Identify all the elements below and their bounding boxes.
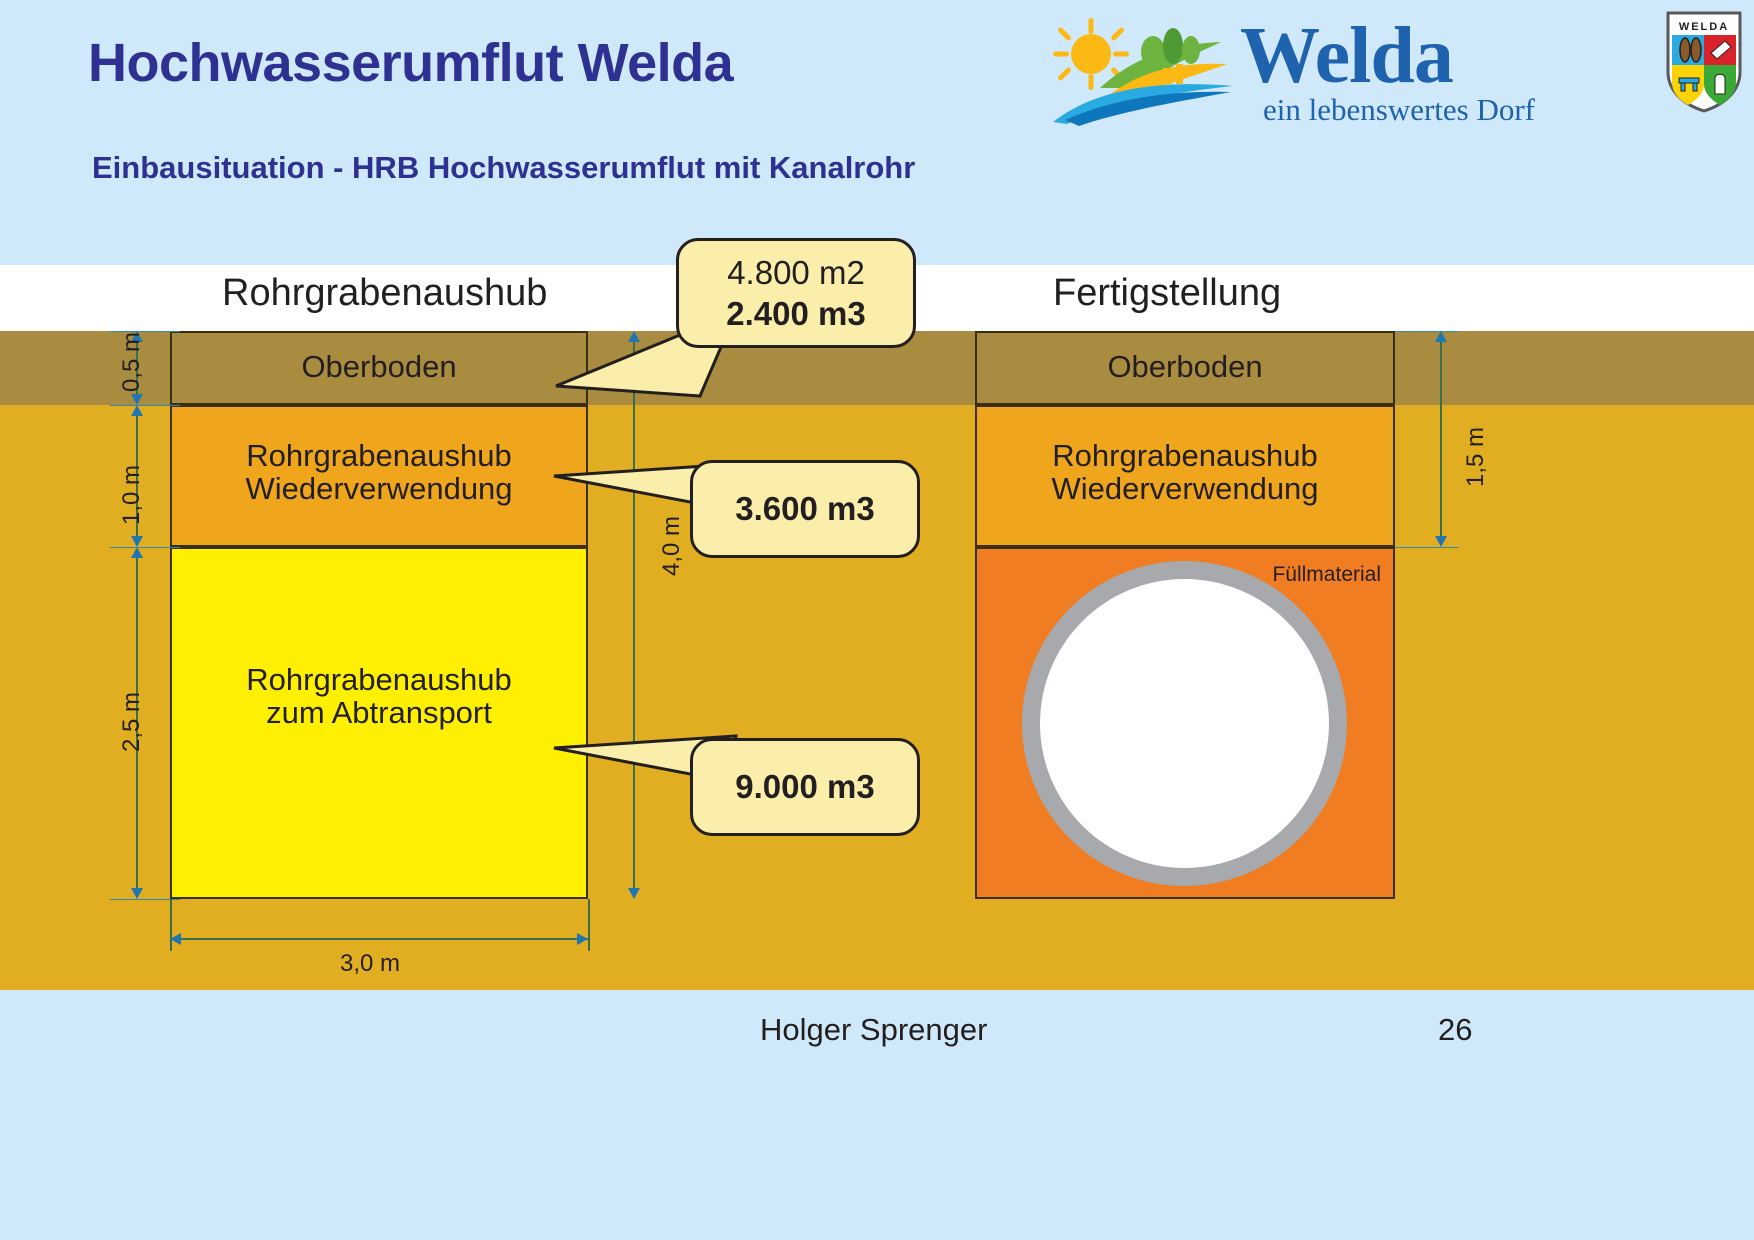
callout-excavation-area: 4.800 m2 2.400 m3 — [676, 238, 916, 348]
welda-logo: Welda ein lebenswertes Dorf WELDA — [1045, 4, 1745, 132]
dim-arrow-up-reuse — [131, 405, 143, 416]
dim-label-topsoil: 0,5 m — [118, 332, 146, 392]
dim-arrow-up-right — [1435, 331, 1447, 342]
left-reuse-label: Rohrgrabenaushub Wiederverwendung — [172, 439, 586, 506]
left-topsoil-block: Oberboden — [170, 331, 588, 405]
logo-tagline: ein lebenswertes Dorf — [1263, 92, 1535, 128]
fill-material-label: Füllmaterial — [1272, 563, 1381, 587]
dim-arrow-down-reuse — [131, 536, 143, 547]
callout-2-line1: 3.600 m3 — [735, 488, 874, 529]
page-subtitle: Einbausituation - HRB Hochwasserumflut m… — [92, 150, 915, 186]
dim-ext-left-mid1 — [110, 405, 180, 406]
right-reuse-label-line2: Wiederverwendung — [977, 472, 1393, 505]
pipe-bore-icon — [1040, 579, 1329, 868]
dim-ext-left-mid2 — [110, 547, 180, 548]
footer-page-number: 26 — [1438, 1012, 1472, 1048]
dim-label-width: 3,0 m — [340, 950, 400, 978]
dim-ext-right-top — [1395, 331, 1459, 332]
dim-arrow-right-width — [577, 933, 588, 945]
left-haul-label: Rohrgrabenaushub zum Abtransport — [172, 663, 586, 730]
panel-heading-left: Rohrgrabenaushub — [222, 272, 547, 315]
left-haul-block: Rohrgrabenaushub zum Abtransport — [170, 547, 588, 899]
left-topsoil-label: Oberboden — [172, 350, 586, 383]
left-haul-label-line2: zum Abtransport — [172, 696, 586, 729]
left-haul-label-line1: Rohrgrabenaushub — [172, 663, 586, 696]
right-topsoil-label: Oberboden — [977, 350, 1393, 383]
dim-ext-right-bottom — [1395, 547, 1459, 548]
callout-3-line1: 9.000 m3 — [735, 766, 874, 807]
dim-arrow-left-width — [170, 933, 181, 945]
left-reuse-label-line1: Rohrgrabenaushub — [172, 439, 586, 472]
dim-ext-width-right — [588, 899, 590, 951]
svg-text:WELDA: WELDA — [1679, 21, 1729, 33]
callout-1-line1: 4.800 m2 — [727, 252, 865, 293]
pipe-wall-icon — [1022, 561, 1347, 886]
dim-line-width — [172, 938, 588, 940]
callout-1-line2: 2.400 m3 — [726, 293, 865, 334]
dim-arrow-up-haul — [131, 547, 143, 558]
right-reuse-label-line1: Rohrgrabenaushub — [977, 439, 1393, 472]
callout-reuse-volume: 3.600 m3 — [690, 460, 920, 558]
page-title: Hochwasserumflut Welda — [88, 32, 733, 94]
dim-line-total-depth — [633, 333, 635, 897]
callout-haul-volume: 9.000 m3 — [690, 738, 920, 836]
dim-label-right-upper: 1,5 m — [1462, 427, 1490, 487]
panel-heading-right: Fertigstellung — [1053, 272, 1281, 315]
right-topsoil-block: Oberboden — [975, 331, 1395, 405]
logo-wordmark: Welda — [1240, 16, 1453, 96]
welda-coat-of-arms-icon: WELDA — [1665, 10, 1743, 114]
left-reuse-label-line2: Wiederverwendung — [172, 472, 586, 505]
right-reuse-label: Rohrgrabenaushub Wiederverwendung — [977, 439, 1393, 506]
dim-arrow-down-total — [628, 888, 640, 899]
left-reuse-block: Rohrgrabenaushub Wiederverwendung — [170, 405, 588, 547]
logo-landscape-icon — [1045, 10, 1235, 126]
footer-author: Holger Sprenger — [760, 1012, 987, 1048]
dim-line-right-upper — [1440, 333, 1442, 545]
right-reuse-block: Rohrgrabenaushub Wiederverwendung — [975, 405, 1395, 547]
dim-arrow-down-right — [1435, 536, 1447, 547]
dim-arrow-down-haul — [131, 888, 143, 899]
dim-label-haul: 2,5 m — [118, 692, 146, 752]
dim-label-reuse: 1,0 m — [118, 465, 146, 525]
dim-arrow-down-topsoil — [131, 394, 143, 405]
